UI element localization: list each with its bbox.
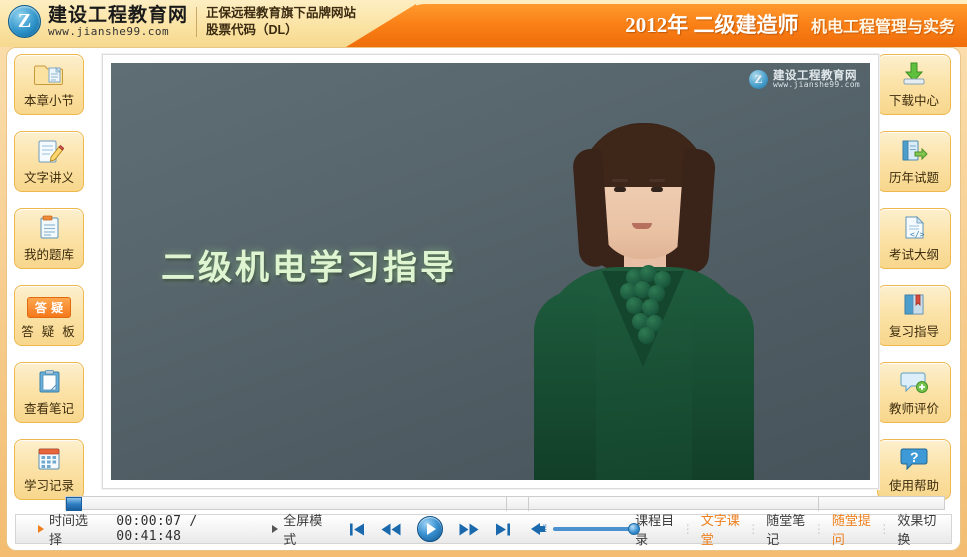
slogan-line-1: 正保远程教育旗下品牌网站 [206, 5, 356, 22]
sidebar-label: 下载中心 [889, 90, 939, 109]
mouth [632, 223, 652, 229]
seek-bar[interactable] [65, 496, 945, 510]
sidebar-item-exam-syllabus[interactable]: </> 考试大纲 [877, 208, 951, 269]
eye-left [614, 187, 626, 192]
brand-circle-icon: Z [749, 70, 768, 89]
answer-badge-text: 答 疑 [27, 297, 71, 318]
answer-badge-icon: 答 疑 [27, 290, 71, 320]
video-surface[interactable]: Z 建设工程教育网 www.jianshe99.com 二级机电学习指导 [111, 63, 870, 480]
course-title-main: 2012年 二级建造师 [625, 13, 798, 37]
prev-track-button[interactable] [349, 522, 365, 537]
header-slogan: 正保远程教育旗下品牌网站 股票代码（DL） [206, 5, 356, 39]
sidebar-item-help[interactable]: ? 使用帮助 [877, 439, 951, 500]
skip-next-icon [495, 522, 511, 537]
svg-text:</>: </> [910, 230, 925, 239]
sidebar-label: 学习记录 [24, 475, 74, 494]
sidebar-label: 本章小节 [24, 90, 74, 109]
sidebar-label: 历年试题 [889, 167, 939, 186]
shoulder-right [692, 291, 754, 480]
page-pencil-icon [34, 136, 64, 166]
brand-circle-icon: Z [8, 5, 41, 38]
collar-ruffle [600, 265, 688, 351]
sidebar-item-past-exams[interactable]: 历年试题 [877, 131, 951, 192]
progress-row [7, 495, 960, 511]
speech-bubble-plus-icon [899, 367, 929, 397]
shoulder-left [534, 291, 596, 480]
sidebar-label: 使用帮助 [889, 475, 939, 494]
sidebar-item-study-record[interactable]: 学习记录 [14, 439, 84, 500]
triangle-right-icon [272, 525, 278, 533]
watermark-site-url: www.jianshe99.com [773, 81, 860, 89]
next-track-button[interactable] [495, 522, 511, 537]
link-separator: ⋮ [813, 522, 825, 536]
rewind-button[interactable] [381, 522, 401, 537]
time-select-button[interactable]: 时间选择 [38, 510, 90, 548]
sidebar-item-answer-board[interactable]: 答 疑 答 疑 板 [14, 285, 84, 346]
logo-divider [196, 7, 197, 37]
volume-control[interactable]: ⁞⁞ [531, 523, 636, 535]
fullscreen-button[interactable]: 全屏模式 [272, 510, 324, 548]
sidebar-label: 考试大纲 [889, 244, 939, 263]
help-bubble-icon: ? [899, 444, 929, 474]
rewind-icon [381, 522, 401, 537]
eyebrow-right [649, 179, 665, 182]
time-display: 00:00:07 / 00:41:48 [116, 514, 244, 544]
skip-previous-icon [349, 522, 365, 537]
sidebar-label: 复习指导 [889, 321, 939, 340]
page-header: Z 建设工程教育网 www.jianshe99.com 正保远程教育旗下品牌网站… [0, 0, 967, 47]
sidebar-label: 文字讲义 [24, 167, 74, 186]
sidebar-label: 我的题库 [24, 244, 74, 263]
page-code-icon: </> [899, 213, 929, 243]
speaker-icon [531, 523, 540, 535]
download-arrow-icon [899, 59, 929, 89]
sidebar-label: 教师评价 [889, 398, 939, 417]
course-title-sub: 机电工程管理与实务 [811, 19, 955, 36]
player-control-bar: 时间选择 00:00:07 / 00:41:48 全屏模式 [15, 514, 952, 544]
secondary-links: 课程目录 ⋮ 文字课堂 ⋮ 随堂笔记 ⋮ 随堂提问 ⋮ 效果切换 [635, 510, 937, 548]
instructor-figure [528, 115, 758, 480]
sidebar-item-review-guide[interactable]: 复习指导 [877, 285, 951, 346]
transport-controls [349, 516, 511, 542]
volume-slider[interactable] [553, 527, 635, 531]
right-sidebar: 下载中心 历年试题 [877, 54, 953, 516]
fullscreen-label: 全屏模式 [283, 510, 324, 548]
sidebar-item-text-lecture[interactable]: 文字讲义 [14, 131, 84, 192]
course-title: 2012年 二级建造师 机电工程管理与实务 [625, 9, 955, 39]
slide-title: 二级机电学习指导 [161, 240, 457, 289]
fast-forward-icon [459, 522, 479, 537]
player-panel: 本章小节 文字讲义 [6, 47, 961, 551]
link-class-notes[interactable]: 随堂笔记 [766, 510, 806, 548]
folder-document-icon [34, 59, 64, 89]
sidebar-item-chapter-outline[interactable]: 本章小节 [14, 54, 84, 115]
sidebar-item-teacher-rating[interactable]: 教师评价 [877, 362, 951, 423]
eye-right [651, 187, 663, 192]
link-separator: ⋮ [747, 522, 759, 536]
logo-site-name: 建设工程教育网 [48, 6, 188, 26]
sidebar-label: 答 疑 板 [21, 321, 76, 340]
player-body: 本章小节 文字讲义 [0, 47, 967, 557]
sidebar-item-download-center[interactable]: 下载中心 [877, 54, 951, 115]
eyebrow-left [612, 179, 628, 182]
link-separator: ⋮ [682, 522, 694, 536]
notebook-lines-icon [34, 213, 64, 243]
slogan-line-2: 股票代码（DL） [206, 22, 356, 39]
logo-site-url: www.jianshe99.com [48, 26, 188, 38]
link-text-classroom[interactable]: 文字课堂 [701, 510, 741, 548]
video-stage[interactable]: Z 建设工程教育网 www.jianshe99.com 二级机电学习指导 [102, 54, 879, 489]
link-class-question[interactable]: 随堂提问 [832, 510, 872, 548]
book-bookmark-icon [899, 290, 929, 320]
left-sidebar: 本章小节 文字讲义 [14, 54, 86, 516]
clipboard-note-icon [34, 367, 64, 397]
link-effect-switch[interactable]: 效果切换 [897, 510, 937, 548]
calendar-icon [34, 444, 64, 474]
book-arrow-icon [899, 136, 929, 166]
fast-forward-button[interactable] [459, 522, 479, 537]
time-select-label: 时间选择 [49, 510, 90, 548]
sidebar-item-my-question-bank[interactable]: 我的题库 [14, 208, 84, 269]
play-button[interactable] [417, 516, 443, 542]
volume-knob[interactable] [628, 523, 640, 535]
svg-text:?: ? [910, 449, 919, 465]
triangle-right-icon [38, 525, 44, 533]
sidebar-item-view-notes[interactable]: 查看笔记 [14, 362, 84, 423]
seek-handle[interactable] [66, 497, 82, 511]
link-separator: ⋮ [878, 522, 890, 536]
sidebar-label: 查看笔记 [24, 398, 74, 417]
video-watermark: Z 建设工程教育网 www.jianshe99.com [749, 69, 860, 89]
link-course-catalog[interactable]: 课程目录 [635, 510, 675, 548]
site-logo[interactable]: Z 建设工程教育网 www.jianshe99.com 正保远程教育旗下品牌网站… [8, 5, 356, 39]
course-player-window: Z 建设工程教育网 www.jianshe99.com 正保远程教育旗下品牌网站… [0, 0, 967, 557]
